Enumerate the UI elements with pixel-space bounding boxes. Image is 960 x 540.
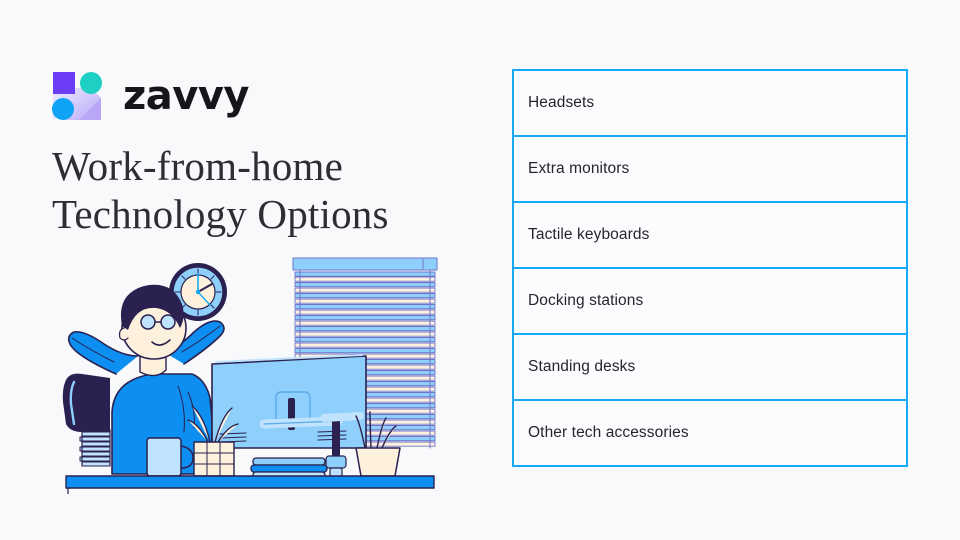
- left-panel: zavvy Work-from-home Technology Options: [0, 0, 470, 540]
- desk-surface-icon: [66, 476, 434, 494]
- brand-lockup: zavvy: [49, 68, 249, 124]
- monitor-back-view-icon: [212, 355, 366, 448]
- option-label: Tactile keyboards: [528, 226, 649, 244]
- person-relaxing-at-desk-illustration: [60, 252, 440, 494]
- option-row[interactable]: Other tech accessories: [512, 399, 908, 467]
- option-row[interactable]: Tactile keyboards: [512, 201, 908, 269]
- brand-wordmark: zavvy: [123, 76, 249, 116]
- option-label: Extra monitors: [528, 160, 629, 178]
- zavvy-z-mark-icon: [49, 68, 105, 124]
- option-row[interactable]: Docking stations: [512, 267, 908, 335]
- stacked-books-icon: [251, 458, 327, 478]
- option-row[interactable]: Headsets: [512, 69, 908, 137]
- page-title-line-1: Work-from-home: [52, 142, 452, 190]
- option-row[interactable]: Extra monitors: [512, 135, 908, 203]
- options-list: Headsets Extra monitors Tactile keyboard…: [512, 69, 908, 467]
- page-title-line-2: Technology Options: [52, 190, 452, 238]
- option-row[interactable]: Standing desks: [512, 333, 908, 401]
- option-label: Standing desks: [528, 358, 635, 376]
- option-label: Docking stations: [528, 292, 643, 310]
- slide-canvas: zavvy Work-from-home Technology Options: [0, 0, 960, 540]
- office-chair-icon: [63, 374, 110, 466]
- option-label: Headsets: [528, 94, 594, 112]
- option-label: Other tech accessories: [528, 424, 689, 442]
- page-title: Work-from-home Technology Options: [52, 142, 452, 239]
